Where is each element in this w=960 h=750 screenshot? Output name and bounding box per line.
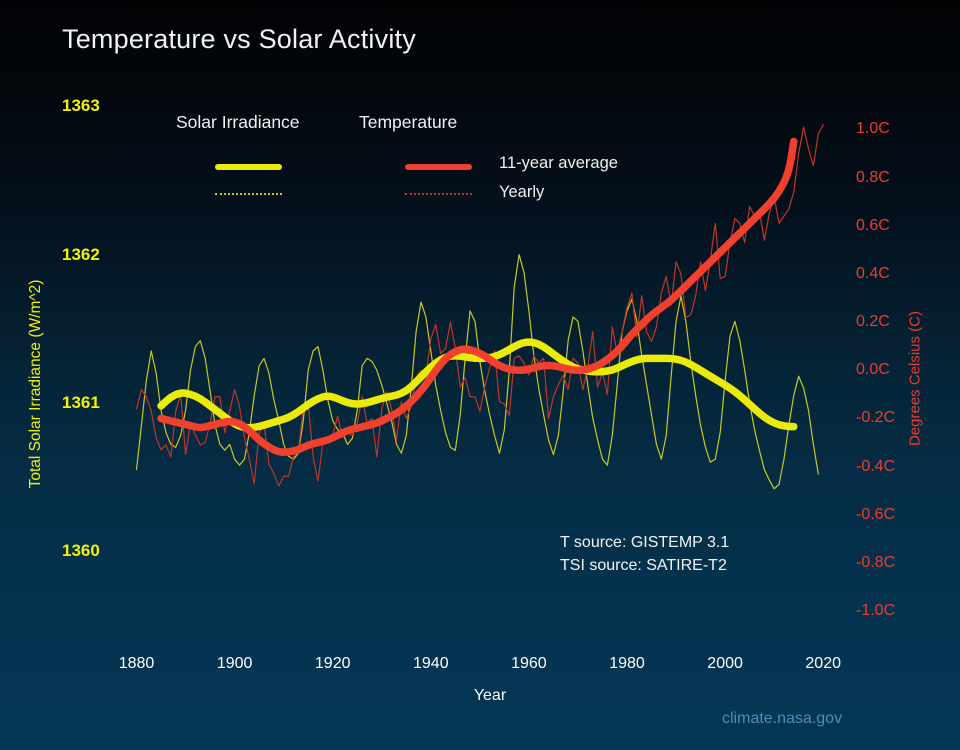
y-right-tick: -0.8C — [856, 554, 895, 572]
y-right-tick: 1.0C — [856, 120, 890, 138]
y-right-tick: -0.6C — [856, 506, 895, 524]
x-axis-tick: 2000 — [695, 655, 755, 673]
y-left-tick: 1362 — [62, 245, 100, 265]
y-left-tick: 1360 — [62, 541, 100, 561]
x-axis-tick: 1980 — [597, 655, 657, 673]
source-notes: T source: GISTEMP 3.1 TSI source: SATIRE… — [560, 531, 729, 577]
y-right-tick: 0.0C — [856, 361, 890, 379]
y-right-tick: -0.4C — [856, 458, 895, 476]
source-temperature: T source: GISTEMP 3.1 — [560, 531, 729, 554]
x-axis-tick: 1940 — [401, 655, 461, 673]
y-left-tick: 1361 — [62, 393, 100, 413]
chart-canvas: Temperature vs Solar Activity Solar Irra… — [0, 0, 960, 750]
watermark-climate-nasa-gov: climate.nasa.gov — [722, 710, 842, 728]
y-axis-right-label: Degrees Celsius (C) — [907, 284, 924, 474]
x-axis-tick: 1960 — [499, 655, 559, 673]
y-right-tick: 0.6C — [856, 217, 890, 235]
x-axis-tick: 1880 — [107, 655, 167, 673]
source-tsi: TSI source: SATIRE-T2 — [560, 554, 729, 577]
x-axis-tick: 1900 — [205, 655, 265, 673]
y-right-tick: 0.8C — [856, 169, 890, 187]
series-line — [137, 255, 819, 489]
y-right-tick: 0.2C — [856, 313, 890, 331]
plot-area — [0, 0, 960, 750]
y-right-tick: 0.4C — [856, 265, 890, 283]
x-axis-tick: 1920 — [303, 655, 363, 673]
y-right-tick: -0.2C — [856, 409, 895, 427]
y-axis-left-label: Total Solar Irradiance (W/m^2) — [27, 264, 45, 504]
y-right-tick: -1.0C — [856, 602, 895, 620]
x-axis-tick: 2020 — [793, 655, 853, 673]
x-axis-label: Year — [430, 687, 550, 705]
y-left-tick: 1363 — [62, 96, 100, 116]
